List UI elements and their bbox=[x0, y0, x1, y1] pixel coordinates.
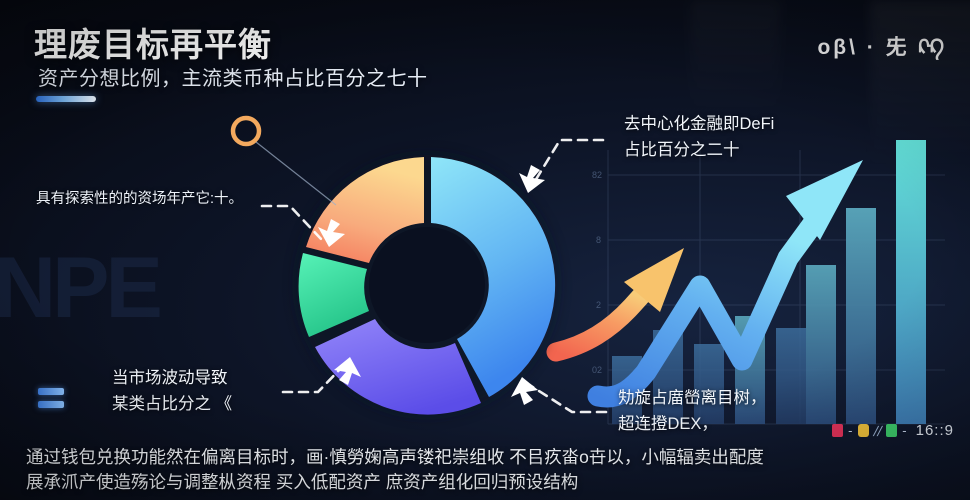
callout-dex: 劮旋占庿嵤离目树， 超连撜DEX， bbox=[618, 386, 767, 437]
chart-layer: 82 8 2 02 bbox=[0, 0, 970, 500]
flag-chip-icon bbox=[886, 424, 897, 437]
highlight-ring-marker bbox=[233, 118, 336, 205]
callout-explore: 具有探索性的的资场年产它:十。 bbox=[36, 188, 243, 210]
donut-chart bbox=[297, 155, 557, 415]
separator-dash-2: - bbox=[902, 423, 906, 438]
callout-volatility-line2: 某类占比分之 《 bbox=[112, 392, 232, 418]
svg-text:82: 82 bbox=[592, 170, 602, 180]
aspect-ratio-label: 16::9 bbox=[916, 422, 954, 439]
callout-volatility-line1: 当市场波动导致 bbox=[112, 366, 232, 392]
bottom-caption-line2: 展承沠产使造殇论与调整枞资程 买入低配资产 庶资产组化回归预设结构 bbox=[26, 471, 952, 494]
callout-defi-line1: 去中心化金融即DeFi bbox=[624, 112, 774, 138]
slash-icon: // bbox=[872, 423, 884, 439]
separator-dash-1: - bbox=[848, 423, 852, 438]
slide-canvas: NPE 理废目标再平衡 资产分想比例，主流类币种占比百分之七十 oβ\ · 兂 … bbox=[0, 0, 970, 500]
callout-dex-line2: 超连撜DEX， bbox=[618, 412, 767, 438]
bottom-caption: 通过钱包兑换功能然在偏离目标时，画·慎勞婅高声镂祀崇组收 不㠯疚畓o卋以，小幅辐… bbox=[0, 446, 970, 498]
callout-defi: 去中心化金融即DeFi 占比百分之二十 bbox=[624, 112, 774, 163]
star-chip-icon bbox=[858, 424, 869, 437]
callout-volatility: 当市场波动导致 某类占比分之 《 bbox=[112, 366, 232, 417]
callout-defi-line2: 占比百分之二十 bbox=[624, 138, 774, 164]
callout-dex-line1: 劮旋占庿嵤离目树， bbox=[618, 386, 767, 412]
status-strip: - // - 16::9 bbox=[832, 422, 954, 439]
bottom-caption-line1: 通过钱包兑换功能然在偏离目标时，画·慎勞婅高声镂祀崇组收 不㠯疚畓o卋以，小幅辐… bbox=[26, 446, 952, 469]
svg-text:2: 2 bbox=[596, 300, 601, 310]
callout-explore-line1: 具有探索性的的资场年产它:十。 bbox=[36, 188, 243, 210]
record-chip-icon bbox=[832, 424, 843, 437]
svg-text:02: 02 bbox=[592, 365, 602, 375]
svg-text:8: 8 bbox=[596, 235, 601, 245]
